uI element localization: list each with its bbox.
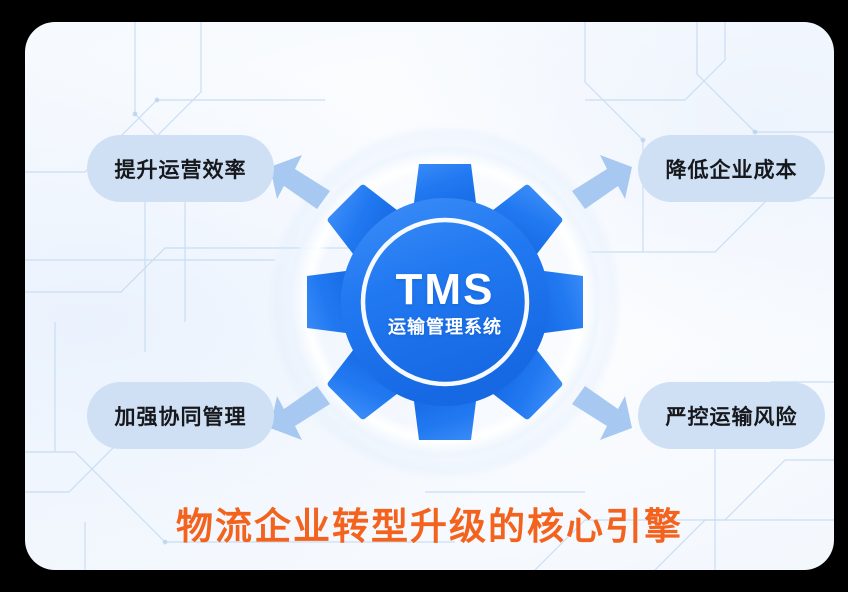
benefit-pill-bottom-left[interactable]: 加强协同管理 xyxy=(87,382,274,449)
arrow-down-left-icon xyxy=(268,384,332,442)
footer-headline: 物流企业转型升级的核心引擎 xyxy=(25,496,834,550)
benefit-label: 严控运输风险 xyxy=(666,401,798,431)
benefit-pill-top-left[interactable]: 提升运营效率 xyxy=(87,135,274,202)
gear-icon xyxy=(307,164,583,440)
benefit-label: 降低企业成本 xyxy=(666,154,798,184)
benefit-label: 提升运营效率 xyxy=(115,154,247,184)
arrow-up-right-icon xyxy=(570,153,634,211)
screenshot-canvas: TMS 运输管理系统 提升运营效率 降低企业成本 加强协同管理 严控运输风险 xyxy=(0,0,848,592)
benefit-label: 加强协同管理 xyxy=(115,401,247,431)
infographic-card: TMS 运输管理系统 提升运营效率 降低企业成本 加强协同管理 严控运输风险 xyxy=(25,22,834,570)
benefit-pill-bottom-right[interactable]: 严控运输风险 xyxy=(638,382,825,449)
arrow-up-left-icon xyxy=(268,153,332,211)
arrow-down-right-icon xyxy=(570,384,634,442)
benefit-pill-top-right[interactable]: 降低企业成本 xyxy=(638,135,825,202)
